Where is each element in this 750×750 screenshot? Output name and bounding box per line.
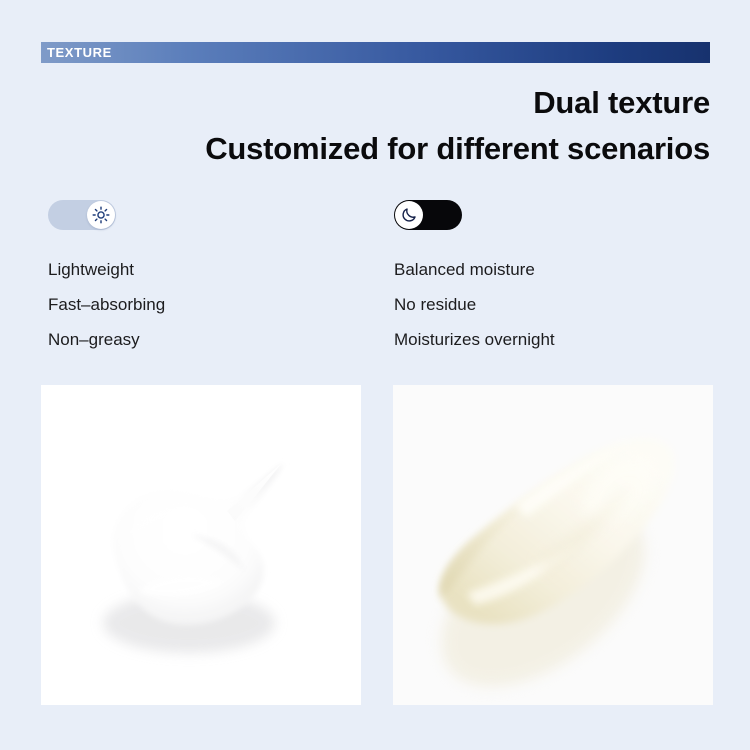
headline-line-2: Customized for different scenarios: [40, 126, 710, 172]
day-cream-swatch: [41, 385, 361, 705]
night-mode-toggle[interactable]: [394, 200, 462, 230]
list-item: Non–greasy: [48, 322, 368, 357]
night-cream-swatch: [393, 385, 713, 705]
day-feature-list: Lightweight Fast–absorbing Non–greasy: [48, 252, 368, 357]
day-mode-toggle[interactable]: [48, 200, 116, 230]
texture-section: TEXTURE Dual texture Customized for diff…: [0, 0, 750, 750]
sun-icon: [92, 206, 110, 224]
page-title: Dual texture Customized for different sc…: [40, 80, 710, 172]
list-item: Fast–absorbing: [48, 287, 368, 322]
day-column: Lightweight Fast–absorbing Non–greasy: [48, 200, 368, 357]
day-swatch-panel: [41, 385, 361, 705]
night-swatch-panel: [393, 385, 713, 705]
section-banner: TEXTURE: [41, 42, 710, 63]
night-column: Balanced moisture No residue Moisturizes…: [394, 200, 714, 357]
list-item: Balanced moisture: [394, 252, 714, 287]
night-feature-list: Balanced moisture No residue Moisturizes…: [394, 252, 714, 357]
moon-icon: [400, 206, 418, 224]
night-toggle-knob: [395, 201, 423, 229]
list-item: No residue: [394, 287, 714, 322]
section-banner-label: TEXTURE: [41, 46, 112, 59]
headline-line-1: Dual texture: [40, 80, 710, 126]
list-item: Lightweight: [48, 252, 368, 287]
day-toggle-knob: [87, 201, 115, 229]
list-item: Moisturizes overnight: [394, 322, 714, 357]
